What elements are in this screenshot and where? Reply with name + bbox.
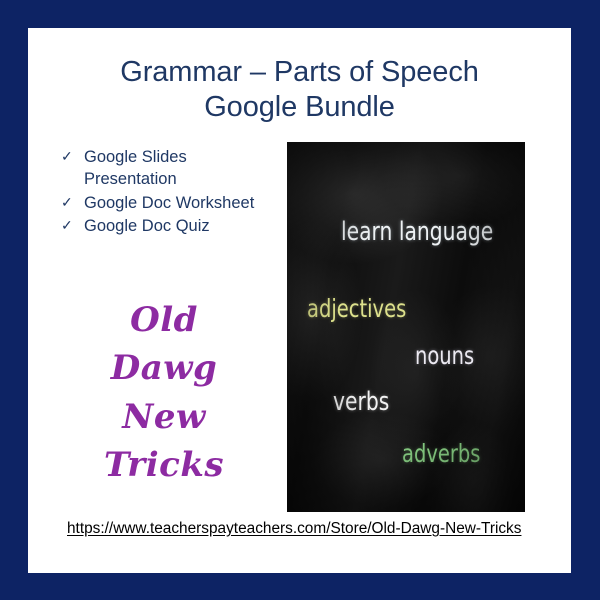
store-url-link[interactable]: https://www.teacherspayteachers.com/Stor…: [67, 518, 545, 540]
chalkboard-image: learn language adjectives nouns verbs ad…: [287, 142, 525, 512]
brand-line-1: Old: [64, 296, 264, 344]
check-icon: ✓: [61, 146, 84, 166]
list-item-label: Google Slides Presentation: [84, 146, 276, 191]
chalk-word-nouns: nouns: [415, 341, 474, 370]
page-title-line-2: Google Bundle: [28, 90, 571, 125]
list-item: ✓ Google Doc Worksheet: [61, 192, 276, 214]
feature-list: ✓ Google Slides Presentation ✓ Google Do…: [61, 146, 276, 239]
check-icon: ✓: [61, 215, 84, 235]
page-title: Grammar – Parts of Speech Google Bundle: [28, 55, 571, 126]
check-icon: ✓: [61, 192, 84, 212]
chalk-word-adverbs: adverbs: [402, 439, 480, 468]
brand-line-2: Dawg: [64, 344, 264, 392]
brand-wordmark: Old Dawg New Tricks: [64, 296, 264, 489]
list-item: ✓ Google Slides Presentation: [61, 146, 276, 191]
chalk-word-learn-language: learn language: [341, 217, 493, 247]
list-item: ✓ Google Doc Quiz: [61, 215, 276, 237]
cover-inner-canvas: Grammar – Parts of Speech Google Bundle …: [28, 28, 571, 573]
product-cover: Grammar – Parts of Speech Google Bundle …: [0, 0, 600, 600]
brand-line-3: New: [64, 393, 264, 441]
brand-line-4: Tricks: [64, 441, 264, 489]
page-title-line-1: Grammar – Parts of Speech: [28, 55, 571, 90]
list-item-label: Google Doc Worksheet: [84, 192, 276, 214]
list-item-label: Google Doc Quiz: [84, 215, 276, 237]
chalk-word-adjectives: adjectives: [307, 294, 406, 323]
chalk-word-verbs: verbs: [333, 387, 389, 417]
